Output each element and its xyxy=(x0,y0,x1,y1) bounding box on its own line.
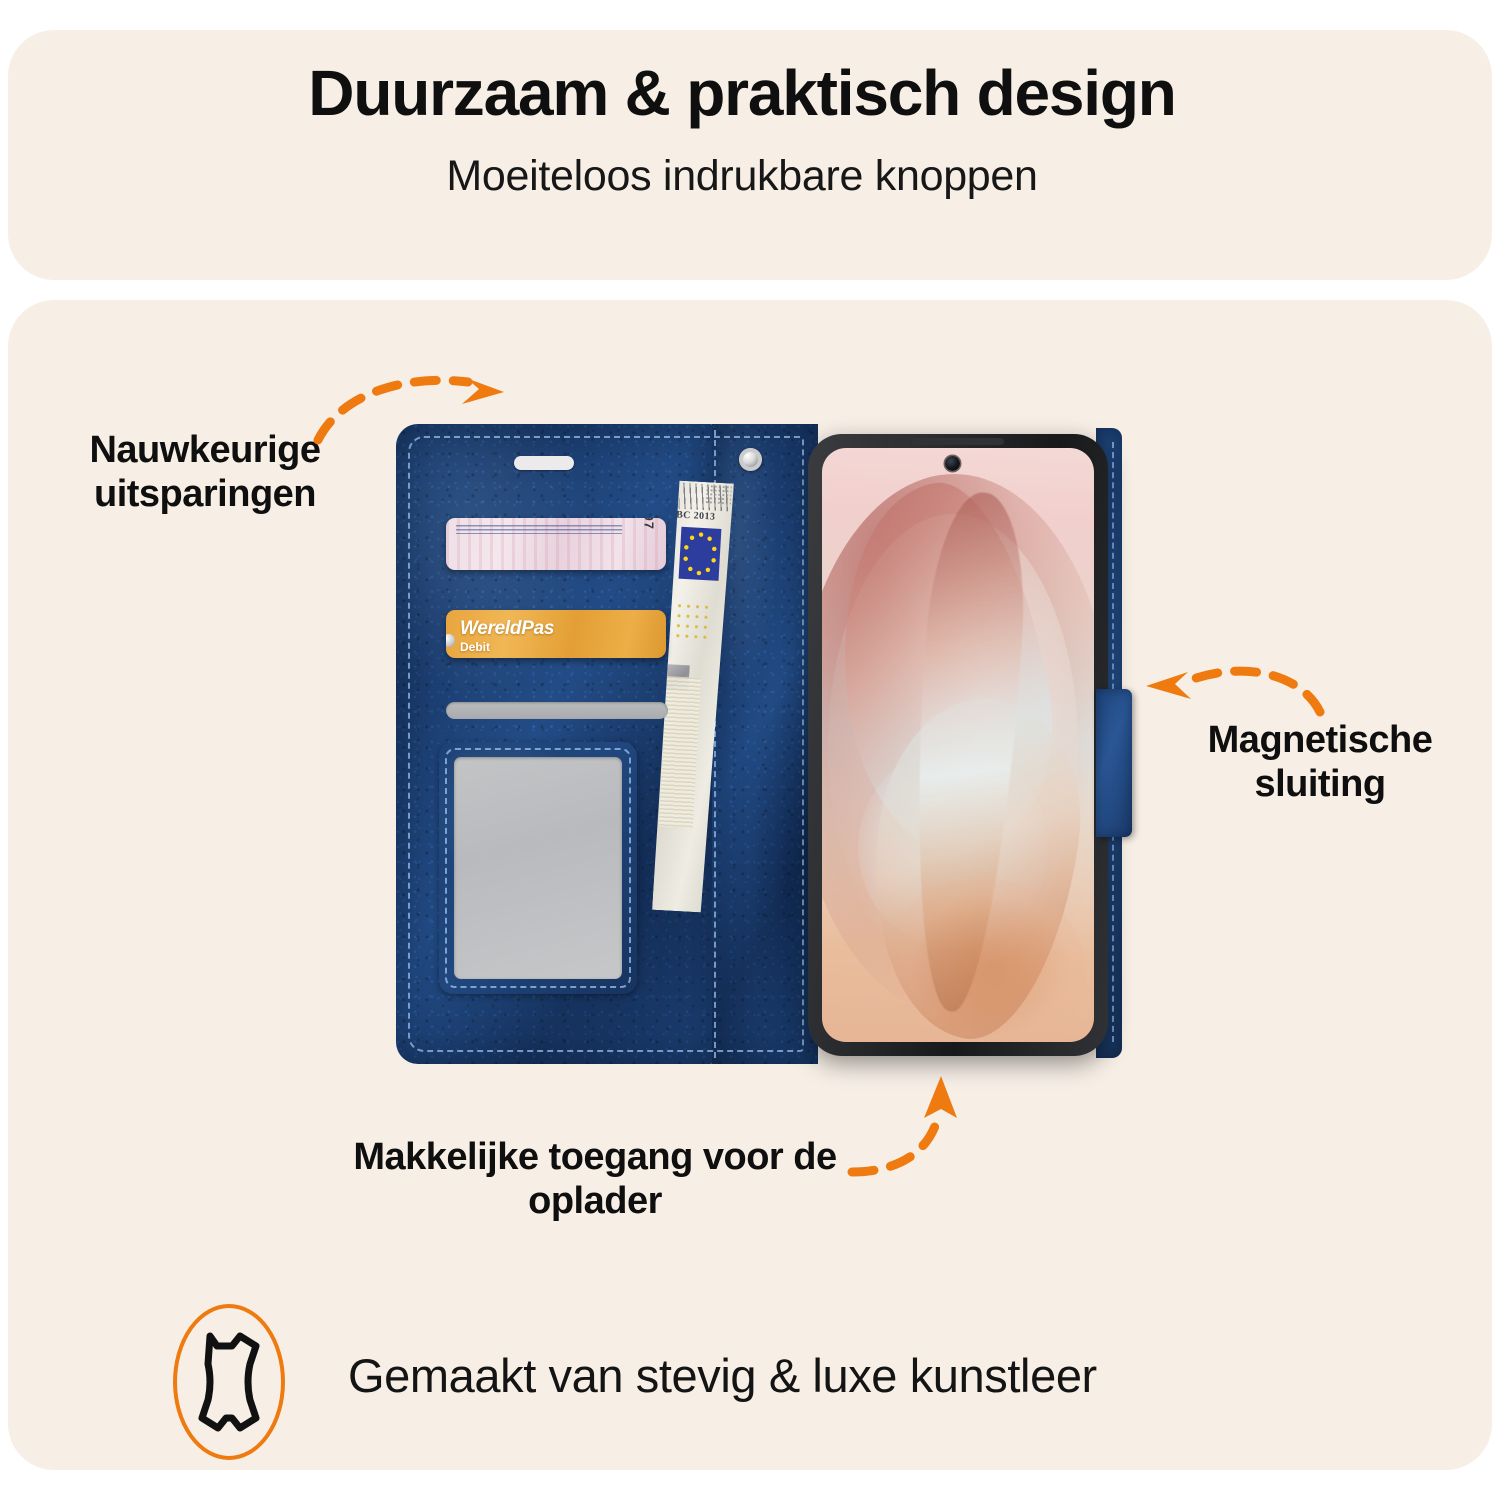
id-card-microtext xyxy=(456,525,622,534)
banknote-dots xyxy=(705,484,732,505)
banknote-serial: BC 2013 xyxy=(676,509,716,522)
debit-card: WereldPas Debit xyxy=(446,610,666,658)
speaker-cutout xyxy=(514,456,574,470)
smartphone xyxy=(808,434,1108,1056)
callout-label-magnet: Magnetische sluiting xyxy=(1155,718,1485,806)
banknote-microprint xyxy=(673,601,709,643)
footer-label: Gemaakt van stevig & luxe kunstleer xyxy=(348,1348,1097,1403)
front-camera-icon xyxy=(945,456,960,471)
eu-stars xyxy=(679,527,722,581)
debit-card-type: Debit xyxy=(460,640,490,654)
id-card: 797 xyxy=(446,518,666,570)
id-window-pane xyxy=(454,757,622,979)
callout-label-cutouts: Nauwkeurige uitsparingen xyxy=(40,428,370,516)
debit-card-brand: WereldPas xyxy=(460,618,554,640)
id-window-pocket xyxy=(439,742,637,994)
card-chip-icon xyxy=(446,634,455,647)
product-image-wallet-case: BC 2013 797 WereldPas Debit xyxy=(396,424,1136,1064)
phone-screen xyxy=(822,448,1094,1042)
eu-flag-icon xyxy=(679,527,722,581)
earpiece-icon xyxy=(912,438,1004,445)
callout-label-charger: Makkelijke toegang voor de oplader xyxy=(350,1135,840,1223)
infographic-page: Duurzaam & praktisch design Moeiteloos i… xyxy=(0,0,1500,1500)
banknote-ribs xyxy=(659,676,701,828)
snap-rivet-icon xyxy=(739,448,762,471)
empty-card-slot xyxy=(446,702,668,719)
id-card-number: 797 xyxy=(642,518,657,530)
magnetic-closure-tab xyxy=(1096,689,1132,837)
page-title: Duurzaam & praktisch design xyxy=(0,56,1484,130)
leather-hide-icon xyxy=(172,1302,286,1462)
page-subtitle: Moeiteloos indrukbare knoppen xyxy=(0,152,1484,201)
